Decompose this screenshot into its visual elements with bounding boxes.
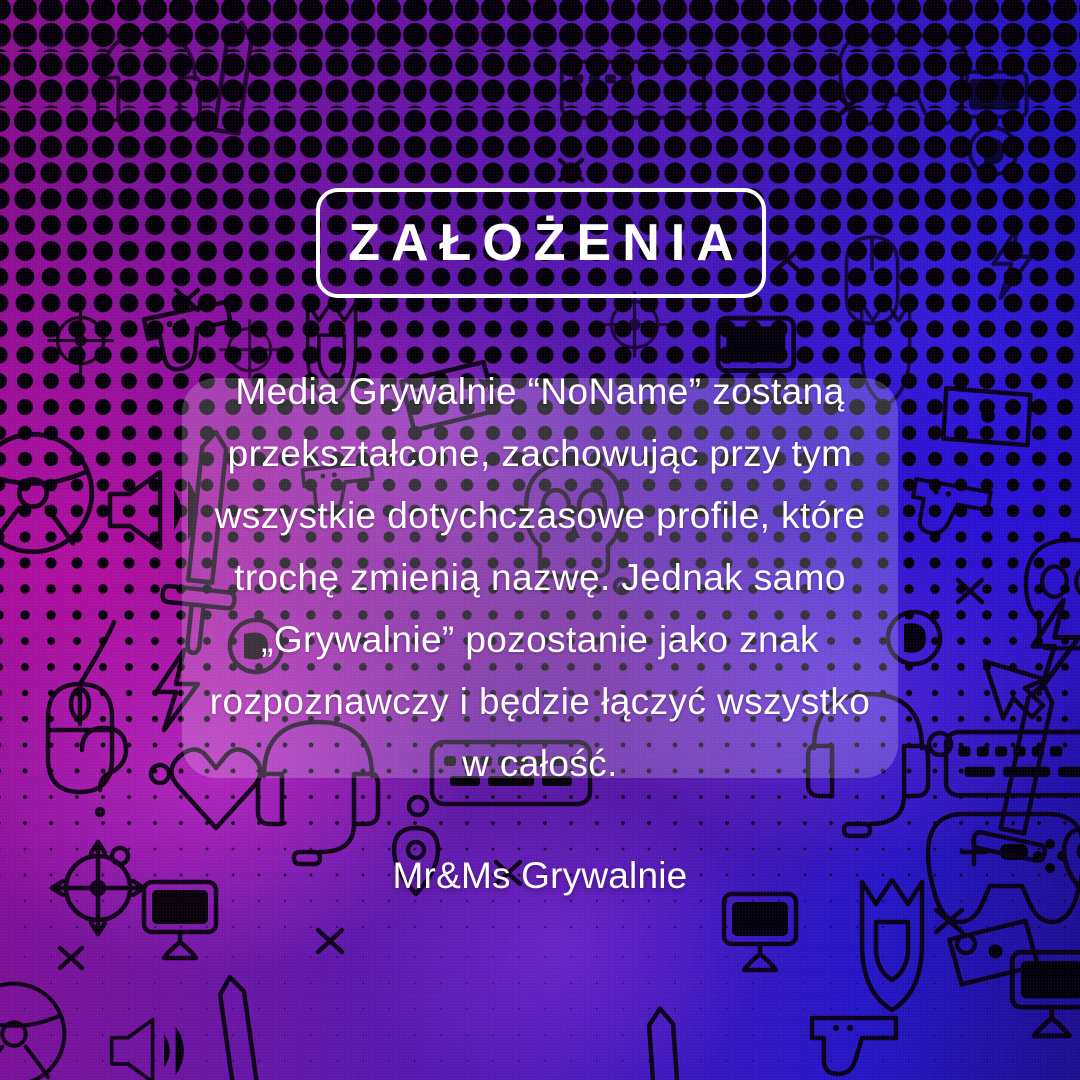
poster-canvas: ZAŁOŻENIA Media Grywalnie “NoName” zosta… (0, 0, 1080, 1080)
body-paragraph: Media Grywalnie “NoName” zostaną przeksz… (208, 361, 872, 795)
page-title: ZAŁOŻENIA (337, 217, 745, 269)
body-text-container: Media Grywalnie “NoName” zostaną przeksz… (182, 378, 898, 778)
title-badge: ZAŁOŻENIA (316, 188, 766, 298)
footer: Mr&Ms Grywalnie (0, 855, 1080, 897)
footer-brand: Mr&Ms Grywalnie (393, 855, 688, 896)
